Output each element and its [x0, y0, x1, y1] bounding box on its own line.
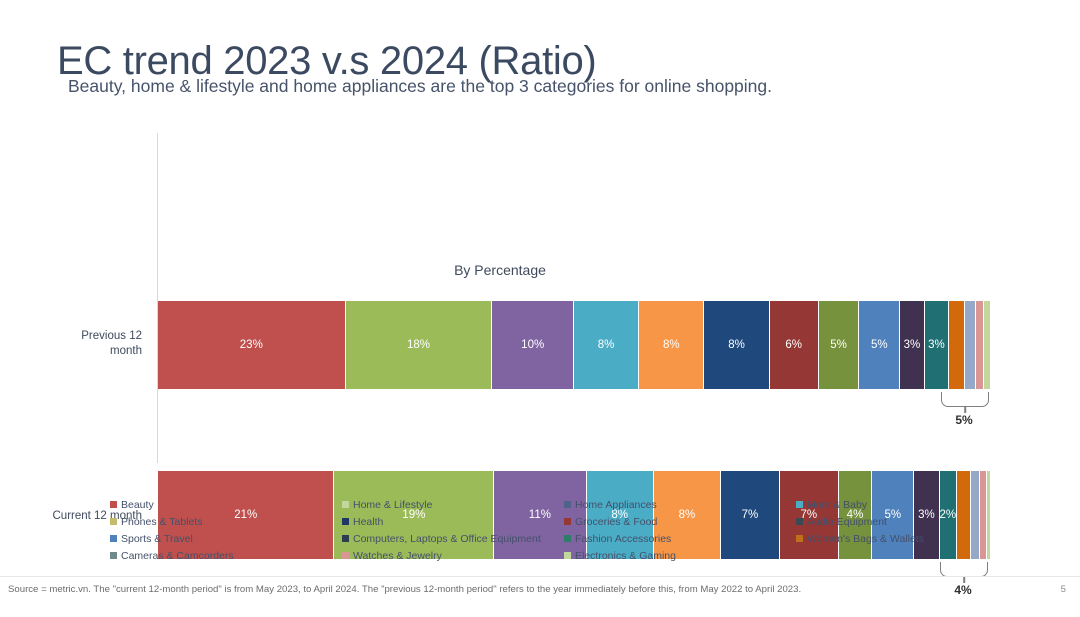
legend-swatch-icon	[796, 535, 803, 542]
legend-label: Fashion Accessories	[575, 533, 671, 545]
legend-item[interactable]: Phones & Tablets	[110, 513, 342, 530]
legend-swatch-icon	[342, 552, 349, 559]
legend-swatch-icon	[564, 501, 571, 508]
bar-segment-label: 5%	[871, 339, 888, 351]
stacked-bar-chart: By Percentage Previous 12month Current 1…	[0, 125, 1080, 485]
bar-segment: 23%	[158, 301, 346, 389]
bar-segment-label: 5%	[830, 339, 847, 351]
bar-segment	[984, 301, 990, 389]
legend-swatch-icon	[564, 552, 571, 559]
legend-label: Computers, Laptops & Office Equipment	[353, 533, 541, 545]
legend-label: Phones & Tablets	[121, 516, 203, 528]
legend-label: Groceries & Food	[575, 516, 657, 528]
bar-segment-label: 3%	[904, 339, 921, 351]
legend-item[interactable]: Sports & Travel	[110, 530, 342, 547]
legend-item[interactable]: Cameras & Camcorders	[110, 547, 342, 564]
legend-item[interactable]: Beauty	[110, 496, 342, 513]
legend-label: Electronics & Gaming	[575, 550, 676, 562]
legend-label: Beauty	[121, 499, 154, 511]
bar-segment-label: 23%	[240, 339, 263, 351]
bar-segment	[965, 301, 976, 389]
legend-label: Cameras & Camcorders	[121, 550, 234, 562]
bar-segment: 6%	[770, 301, 819, 389]
legend-item[interactable]: Electronics & Gaming	[564, 547, 796, 564]
slide: EC trend 2023 v.s 2024 (Ratio) Beauty, h…	[0, 0, 1080, 617]
legend-label: Home & Lifestyle	[353, 499, 432, 511]
legend-item[interactable]: Home Appliances	[564, 496, 796, 513]
legend-item[interactable]: Computers, Laptops & Office Equipment	[342, 530, 564, 547]
legend-swatch-icon	[342, 518, 349, 525]
y-tick-label-previous: Previous 12month	[22, 329, 142, 359]
legend-swatch-icon	[110, 501, 117, 508]
bar-segment: 3%	[900, 301, 924, 389]
legend-swatch-icon	[796, 518, 803, 525]
bar-segment-label: 8%	[663, 339, 680, 351]
legend-label: Sports & Travel	[121, 533, 193, 545]
bar-row-previous: 23%18%10%8%8%8%6%5%5%3%3%	[158, 301, 990, 389]
legend-swatch-icon	[564, 518, 571, 525]
legend-swatch-icon	[110, 518, 117, 525]
tail-bracket-label-current: 4%	[940, 583, 986, 597]
bar-segment: 10%	[492, 301, 574, 389]
bar-segment-label: 6%	[785, 339, 802, 351]
bar-segment: 8%	[639, 301, 704, 389]
legend-item[interactable]: Fashion Accessories	[564, 530, 796, 547]
legend-swatch-icon	[342, 501, 349, 508]
bar-segment: 3%	[925, 301, 949, 389]
tail-bracket-previous	[941, 392, 989, 407]
legend-label: Audio Equipment	[807, 516, 887, 528]
legend-item[interactable]: Health	[342, 513, 564, 530]
legend-item[interactable]: Home & Lifestyle	[342, 496, 564, 513]
legend-swatch-icon	[342, 535, 349, 542]
footer-divider	[0, 576, 1080, 577]
bar-segment: 5%	[819, 301, 860, 389]
bar-segment: 5%	[859, 301, 900, 389]
tail-bracket-label-previous: 5%	[941, 413, 987, 427]
legend-item[interactable]: Women's Bags & Wallets	[796, 530, 1010, 547]
tail-bracket-current	[940, 562, 988, 577]
chart-title: By Percentage	[0, 262, 1080, 278]
legend-item[interactable]: Groceries & Food	[564, 513, 796, 530]
bar-segment: 8%	[574, 301, 639, 389]
page-subtitle: Beauty, home & lifestyle and home applia…	[68, 76, 772, 97]
bar-segment	[976, 301, 984, 389]
legend-swatch-icon	[110, 552, 117, 559]
bar-segment-label: 8%	[728, 339, 745, 351]
chart-title-text: By Percentage	[454, 262, 546, 278]
bar-segment: 8%	[704, 301, 769, 389]
page-number: 5	[1061, 584, 1066, 595]
legend-swatch-icon	[796, 501, 803, 508]
bar-segment-label: 18%	[407, 339, 430, 351]
y-axis-line	[157, 133, 158, 463]
legend-swatch-icon	[564, 535, 571, 542]
bar-segment-label: 8%	[598, 339, 615, 351]
legend-label: Mom & Baby	[807, 499, 867, 511]
bar-segment-label: 3%	[928, 339, 945, 351]
bar-segment-label: 10%	[521, 339, 544, 351]
bar-segment: 18%	[346, 301, 493, 389]
legend-swatch-icon	[110, 535, 117, 542]
legend-label: Health	[353, 516, 383, 528]
legend-item[interactable]: Watches & Jewelry	[342, 547, 564, 564]
legend-item[interactable]: Mom & Baby	[796, 496, 1010, 513]
legend-label: Home Appliances	[575, 499, 657, 511]
legend-label: Women's Bags & Wallets	[807, 533, 924, 545]
source-note: Source = metric.vn. The "current 12-mont…	[8, 584, 801, 595]
legend-item[interactable]: Audio Equipment	[796, 513, 1010, 530]
bar-segment	[949, 301, 965, 389]
chart-legend: BeautyHome & LifestyleHome AppliancesMom…	[110, 496, 1010, 562]
legend-label: Watches & Jewelry	[353, 550, 442, 562]
